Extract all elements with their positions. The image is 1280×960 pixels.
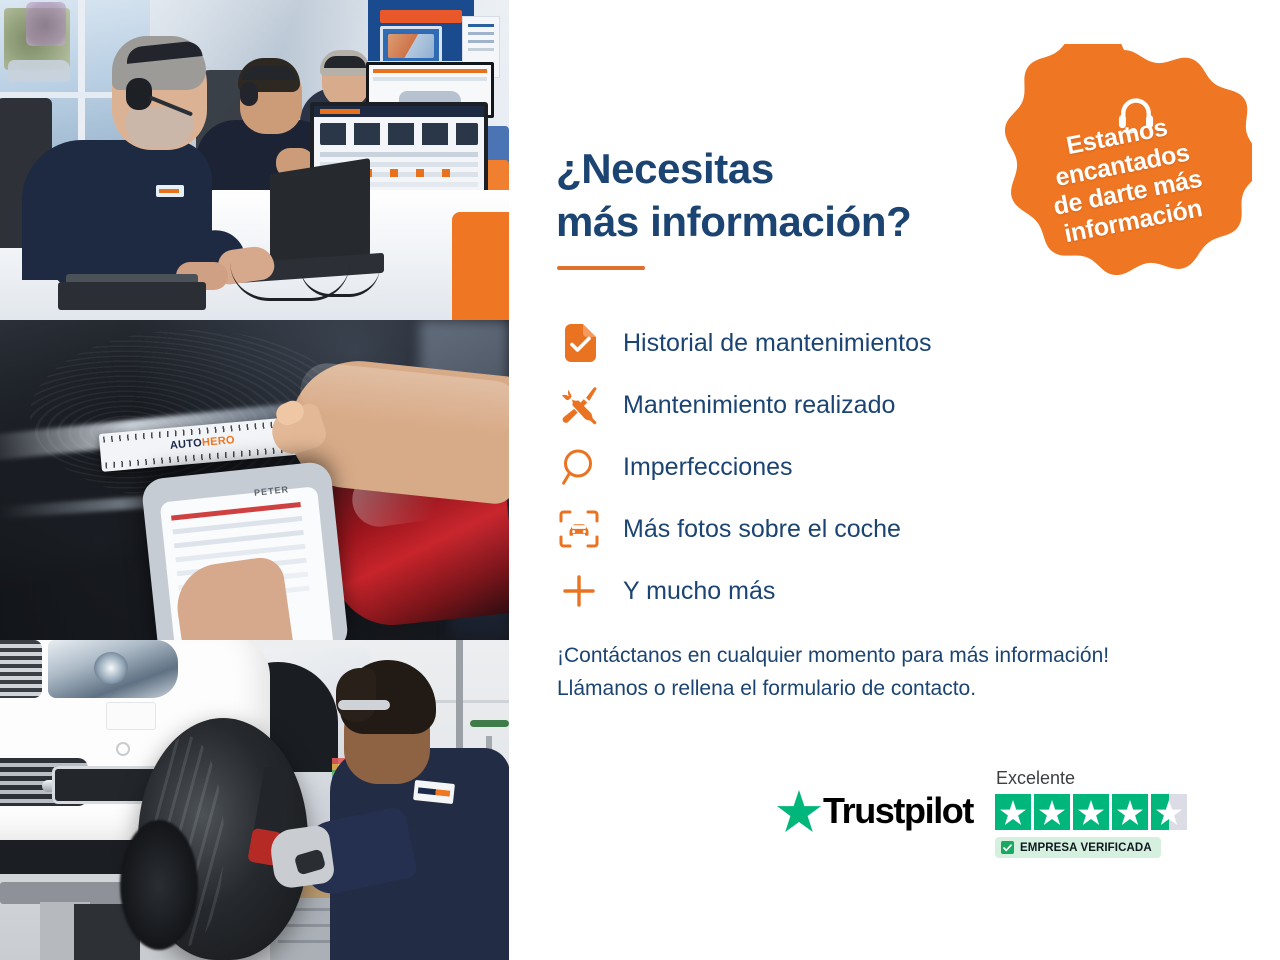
safety-glasses [338,700,390,710]
content-panel: Estamos encantados de darte más informac… [509,0,1280,960]
page-title-line-2: más información? [556,198,911,245]
car-photo-frame-icon [557,507,601,551]
trustpilot-wordmark: Trustpilot [823,790,973,832]
headlight [48,640,178,698]
trustpilot-rating: Excelente [995,768,1187,858]
photo-column: AUTOHERO PETER [0,0,509,960]
contact-badge: Estamos encantados de darte más informac… [997,44,1252,306]
agent-3-headset [324,56,366,68]
feature-label: Más fotos sobre el coche [623,515,901,544]
front-grille [0,640,42,698]
license-plate-area [106,702,156,730]
trustpilot-logo[interactable]: Trustpilot [777,790,973,832]
trustpilot-stars [995,794,1187,830]
window-tree [26,2,66,46]
page-title: ¿Necesitas más información? [556,143,1026,248]
tire-inner-shadow [120,820,198,950]
agent-1-beard [126,108,194,148]
contact-line-1: ¡Contáctanos en cualquier momento para m… [557,640,1237,673]
feature-item-mantenimiento: Mantenimiento realizado [557,374,1117,436]
verified-check-icon [1001,841,1014,854]
feature-label: Mantenimiento realizado [623,391,895,420]
document-check-icon [557,321,601,365]
contact-text: ¡Contáctanos en cualquier momento para m… [557,640,1237,705]
trustpilot-star-icon [777,790,821,832]
magnifier-icon [557,445,601,489]
star-filled-1 [995,794,1031,830]
feature-label: Historial de mantenimientos [623,329,931,358]
tow-hook-cover [116,742,130,756]
agent-1-logo-badge [156,185,184,197]
car-inspection-ruler-photo: AUTOHERO PETER [0,320,509,640]
info-promo-page: AUTOHERO PETER [0,0,1280,960]
verified-company-badge: EMPRESA VERIFICADA [995,837,1161,858]
wall-poster-photo [380,26,442,64]
green-hose [470,720,509,727]
feature-item-mucho-mas: Y mucho más [557,560,1117,622]
agent-2-earcup [240,82,258,106]
tools-wrench-screwdriver-icon [557,383,601,427]
trustpilot-block[interactable]: Trustpilot Excelente [777,768,1187,858]
feature-list: Historial de mantenimientos Mantenimient… [557,312,1117,622]
page-title-line-1: ¿Necesitas [556,145,774,192]
orange-chair-front [452,212,509,320]
mechanic-tire-photo [0,640,509,960]
feature-item-imperfecciones: Imperfecciones [557,436,1117,498]
contact-line-2: Llámanos o rellena el formulario de cont… [557,673,1237,706]
verified-label: EMPRESA VERIFICADA [1020,842,1152,854]
feature-label: Y mucho más [623,577,775,606]
agent-1-earcup [126,78,152,110]
feature-label: Imperfecciones [623,453,793,482]
call-center-agents-photo [0,0,509,320]
trustpilot-rating-label: Excelente [996,768,1187,789]
star-filled-4 [1112,794,1148,830]
star-filled-2 [1034,794,1070,830]
star-half-5 [1151,794,1187,830]
title-divider [557,266,645,270]
mechanic-hair-side [336,668,376,722]
plus-icon [557,569,601,613]
feature-item-historial: Historial de mantenimientos [557,312,1117,374]
star-filled-3 [1073,794,1109,830]
feature-item-fotos: Más fotos sobre el coche [557,498,1117,560]
window-parked-car [8,60,70,82]
notebook [58,282,206,310]
agent-2-headset [242,66,296,80]
mechanic-autohero-badge [413,780,455,804]
